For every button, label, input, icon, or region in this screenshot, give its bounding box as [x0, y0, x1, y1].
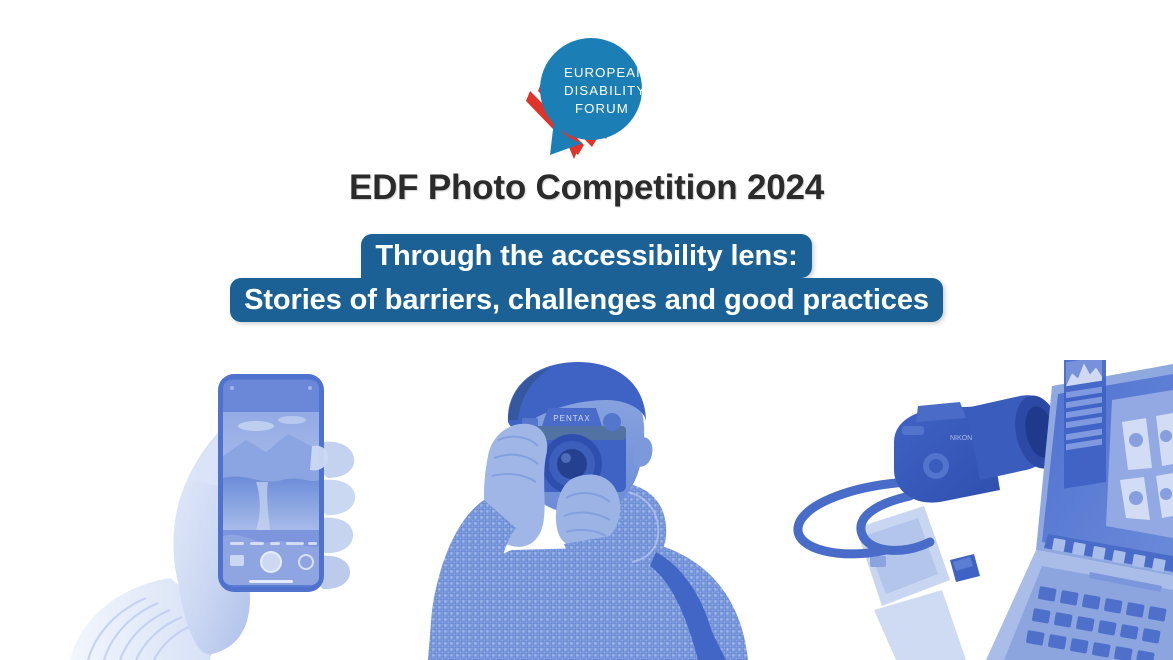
camera-and-laptop-photo: NIKON [790, 360, 1173, 660]
svg-text:PENTAX: PENTAX [553, 414, 590, 423]
logo-text-line-3: FORUM [575, 101, 629, 116]
logo-text-line-1: EUROPEAN [564, 65, 647, 80]
logo-line-1-label: EUROPEAN [524, 159, 525, 160]
smartphone-screen [223, 379, 319, 587]
photographer-with-camera-photo: PENTAX [420, 360, 765, 660]
ear [634, 437, 652, 467]
svg-text:NIKON: NIKON [950, 435, 972, 442]
logo-text-line-2: DISABILITY [564, 83, 646, 98]
subtitle-line-2-row: Stories of barriers, challenges and good… [0, 278, 1173, 322]
logo-block: EUROPEAN DISABILITY FORUM EUROPEAN DISAB… [0, 33, 1173, 159]
poster-canvas: EUROPEAN DISABILITY FORUM EUROPEAN DISAB… [0, 0, 1173, 660]
dslr-camera: NIKON [894, 391, 1067, 502]
photo-grid [1106, 390, 1173, 538]
subtitle-line-1-row: Through the accessibility lens: [0, 234, 1173, 278]
logo-line-2-label: DISABILITY [524, 159, 525, 160]
photo-strip: PENTAX [0, 360, 1173, 660]
page-title: EDF Photo Competition 2024 [0, 168, 1173, 208]
subtitle-banner: Through the accessibility lens: Stories … [0, 234, 1173, 322]
subtitle-line-1: Through the accessibility lens: [361, 234, 811, 278]
subtitle-line-2: Stories of barriers, challenges and good… [230, 278, 943, 322]
logo-line-3-label: FORUM [524, 159, 525, 160]
edf-logo: EUROPEAN DISABILITY FORUM EUROPEAN DISAB… [524, 33, 650, 159]
printed-photos [856, 506, 966, 660]
hand-holding-smartphone-photo [60, 360, 410, 660]
